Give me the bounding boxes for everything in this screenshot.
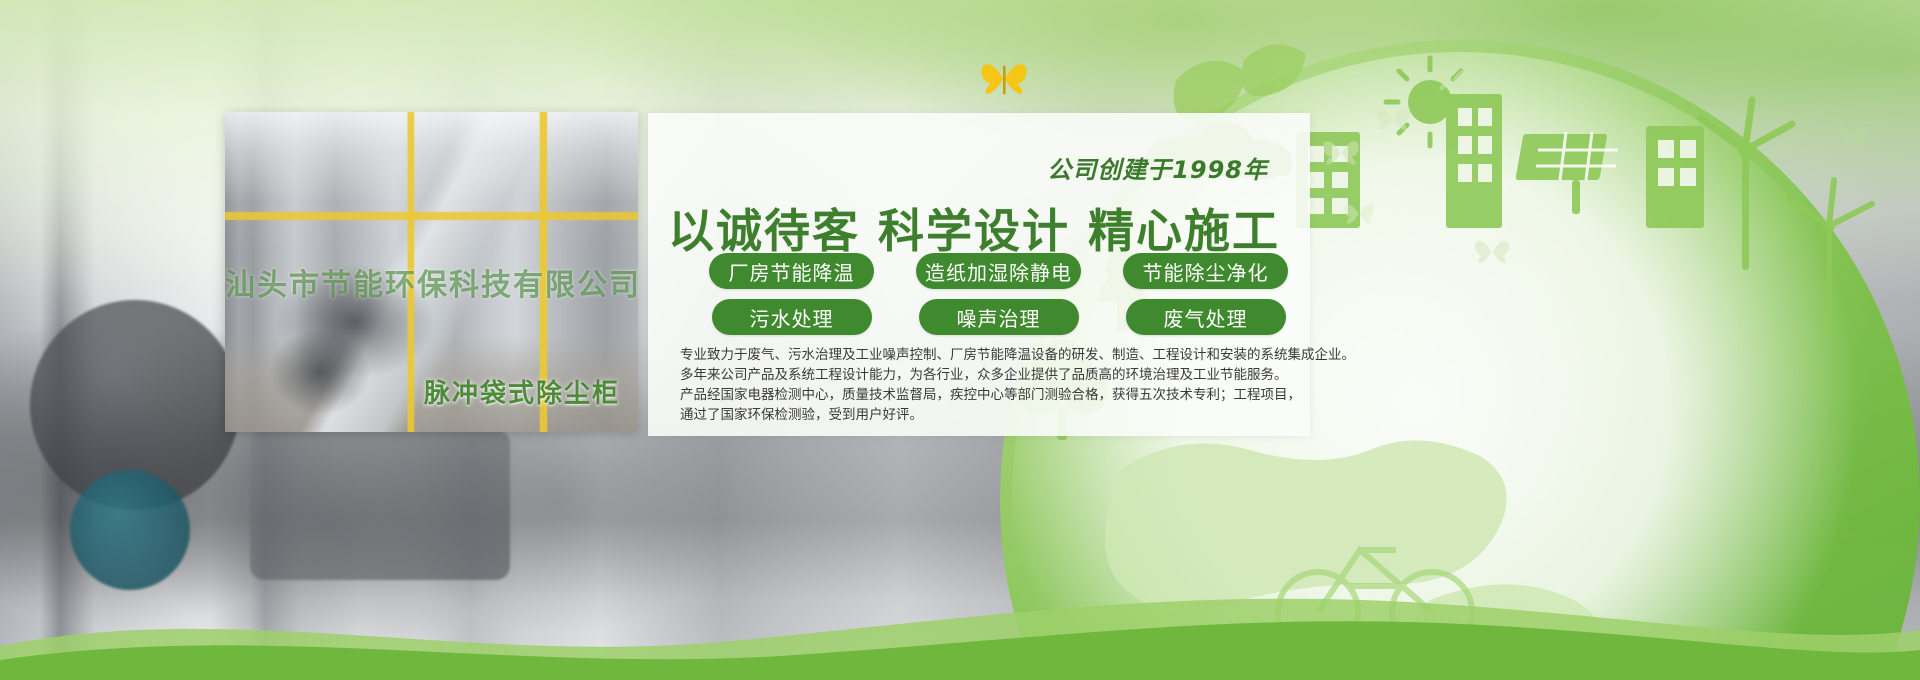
description-line-2: 多年来公司产品及系统工程设计能力，为各行业，众多企业提供了品质高的环境治理及工业… <box>680 365 1320 385</box>
company-tagline: 公司创建于1998年 <box>648 150 1310 185</box>
service-pill-noise-control[interactable]: 噪声治理 <box>919 299 1079 335</box>
service-pill-dust-purify[interactable]: 节能除尘净化 <box>1123 253 1288 289</box>
service-pill-exhaust-gas[interactable]: 废气处理 <box>1126 299 1286 335</box>
service-pill-paper-humidify[interactable]: 造纸加湿除静电 <box>916 253 1081 289</box>
service-pill-grid: 厂房节能降温 造纸加湿除静电 节能除尘净化 污水处理 噪声治理 废气处理 <box>690 253 1310 335</box>
promotional-banner: 汕头市节能环保科技有限公司 脉冲袋式除尘柜 公司创建于1998年 以诚待客 科学… <box>0 0 1920 680</box>
factory-photo-card: 汕头市节能环保科技有限公司 脉冲袋式除尘柜 <box>225 112 638 432</box>
background-duct-shape <box>250 430 510 580</box>
photo-caption: 脉冲袋式除尘柜 <box>424 373 620 410</box>
company-description: 专业致力于废气、污水治理及工业噪声控制、厂房节能降温设备的研发、制造、工程设计和… <box>680 345 1320 425</box>
description-line-4: 通过了国家环保检测验，受到用户好评。 <box>680 405 1320 425</box>
photo-watermark: 汕头市节能环保科技有限公司 <box>225 260 638 304</box>
service-pill-wastewater[interactable]: 污水处理 <box>712 299 872 335</box>
description-line-1: 专业致力于废气、污水治理及工业噪声控制、厂房节能降温设备的研发、制造、工程设计和… <box>680 345 1320 365</box>
background-motor-shape <box>70 470 190 590</box>
service-pill-factory-cooling[interactable]: 厂房节能降温 <box>709 253 874 289</box>
description-line-3: 产品经国家电器检测中心，质量技术监督局，疾控中心等部门测验合格，获得五次技术专利… <box>680 385 1320 405</box>
headline-block: 公司创建于1998年 以诚待客 科学设计 精心施工 <box>648 150 1310 261</box>
main-headline: 以诚待客 科学设计 精心施工 <box>648 195 1310 261</box>
